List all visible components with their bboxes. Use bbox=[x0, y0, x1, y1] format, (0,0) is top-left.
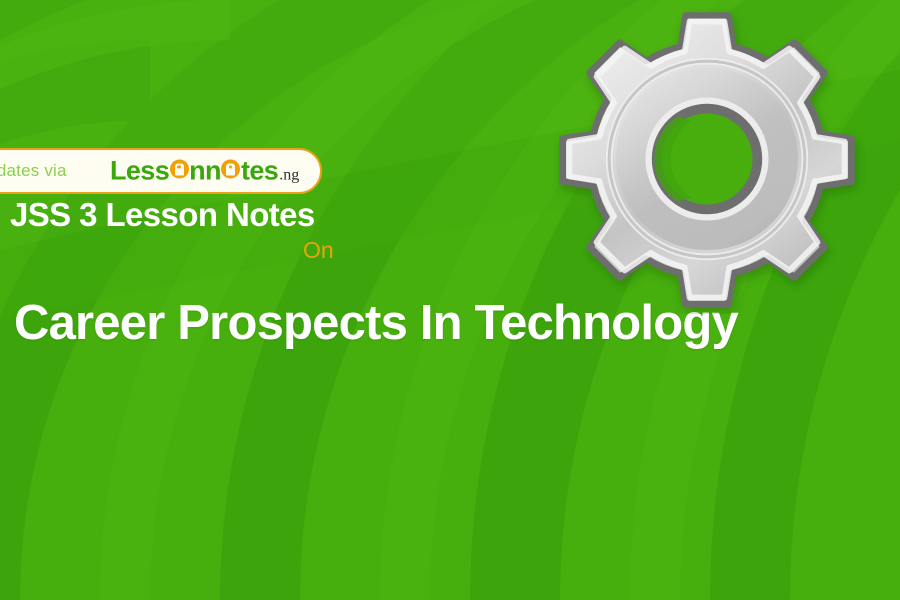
pill-ghost-text: r latest updates via bbox=[0, 161, 67, 181]
lessonnotes-logo[interactable]: Lessnntes .ng bbox=[110, 156, 299, 187]
announcement-pill[interactable]: r latest updates via Lessnntes .ng bbox=[0, 148, 322, 194]
logo-part-three: tes bbox=[241, 156, 278, 187]
logo-part-two: nn bbox=[189, 156, 221, 187]
logo-tld: .ng bbox=[279, 167, 299, 185]
logo-o-icon-second bbox=[221, 160, 240, 179]
lesson-notes-banner: r latest updates via Lessnntes .ng JSS 3… bbox=[0, 0, 900, 600]
logo-o-icon-first bbox=[170, 160, 189, 179]
logo-part-one: Less bbox=[110, 156, 169, 187]
connector-label: On bbox=[303, 237, 334, 264]
subject-line: JSS 3 Lesson Notes bbox=[10, 196, 315, 234]
logo-wordmark: Lessnntes bbox=[110, 156, 278, 187]
gear-icon bbox=[548, 4, 866, 314]
